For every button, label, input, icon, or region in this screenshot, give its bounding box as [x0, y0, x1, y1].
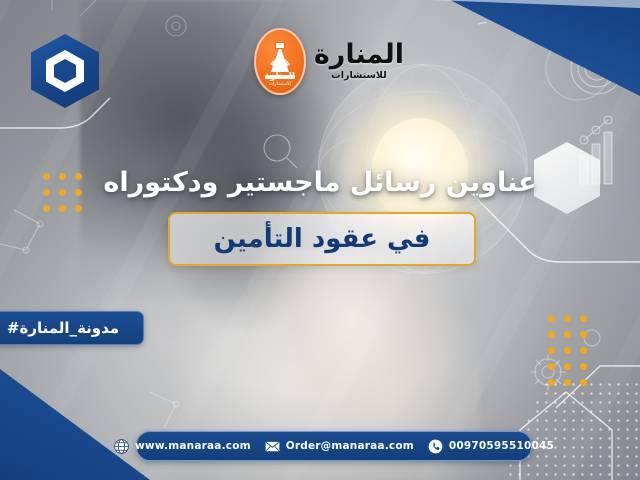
contact-phone-text: 00970595510045 [449, 440, 554, 452]
promo-banner: المنارة للاستشارات المنارة للاستشارات [0, 0, 640, 480]
brand-tagline: للاستشارات [331, 71, 387, 81]
dot [564, 315, 571, 322]
dot [548, 363, 555, 370]
envelope-icon [265, 439, 280, 454]
dot [548, 331, 555, 338]
dot [548, 379, 555, 386]
contact-bar: www.manaraa.com Order@manaraa.com 009705… [136, 431, 532, 461]
dot [580, 315, 587, 322]
dot [564, 379, 571, 386]
dot [580, 363, 587, 370]
dot [43, 205, 50, 212]
contact-email-text: Order@manaraa.com [286, 440, 414, 452]
brand-name: المنارة [314, 41, 404, 68]
subtitle-text: في عقود التأمين [214, 224, 431, 254]
globe-icon [114, 439, 129, 454]
contact-website[interactable]: www.manaraa.com [114, 439, 251, 454]
headline: عناوين رسائل ماجستير ودكتوراه [0, 167, 640, 198]
dot [564, 331, 571, 338]
lighthouse-lamp-icon [275, 42, 285, 49]
brand-seal: المنارة للاستشارات [254, 28, 306, 95]
dot [564, 347, 571, 354]
dot [564, 363, 571, 370]
dot [75, 205, 82, 212]
seal-sub: للاستشارات [265, 83, 295, 88]
dot [580, 347, 587, 354]
seal-text: المنارة للاستشارات [265, 73, 295, 87]
lighthouse-icon [271, 46, 289, 72]
subtitle-box: في عقود التأمين [168, 212, 476, 266]
hashtag-badge[interactable]: مدونة_المنارة# [0, 311, 144, 345]
hexagon-logo-core [54, 59, 76, 83]
phone-icon [428, 439, 443, 454]
contact-email[interactable]: Order@manaraa.com [265, 439, 414, 454]
dot [580, 331, 587, 338]
contact-phone[interactable]: 00970595510045 [428, 439, 554, 454]
dot [59, 205, 66, 212]
brand-wordmark: المنارة للاستشارات [314, 41, 404, 81]
contact-website-text: www.manaraa.com [135, 440, 251, 452]
dot-grid-right [548, 315, 587, 386]
dot [580, 379, 587, 386]
seal-name: المنارة [265, 72, 295, 82]
brand-lockup: المنارة للاستشارات المنارة للاستشارات [254, 26, 404, 96]
dot [548, 347, 555, 354]
hexagon-logo-inner [46, 50, 84, 92]
dot [548, 315, 555, 322]
